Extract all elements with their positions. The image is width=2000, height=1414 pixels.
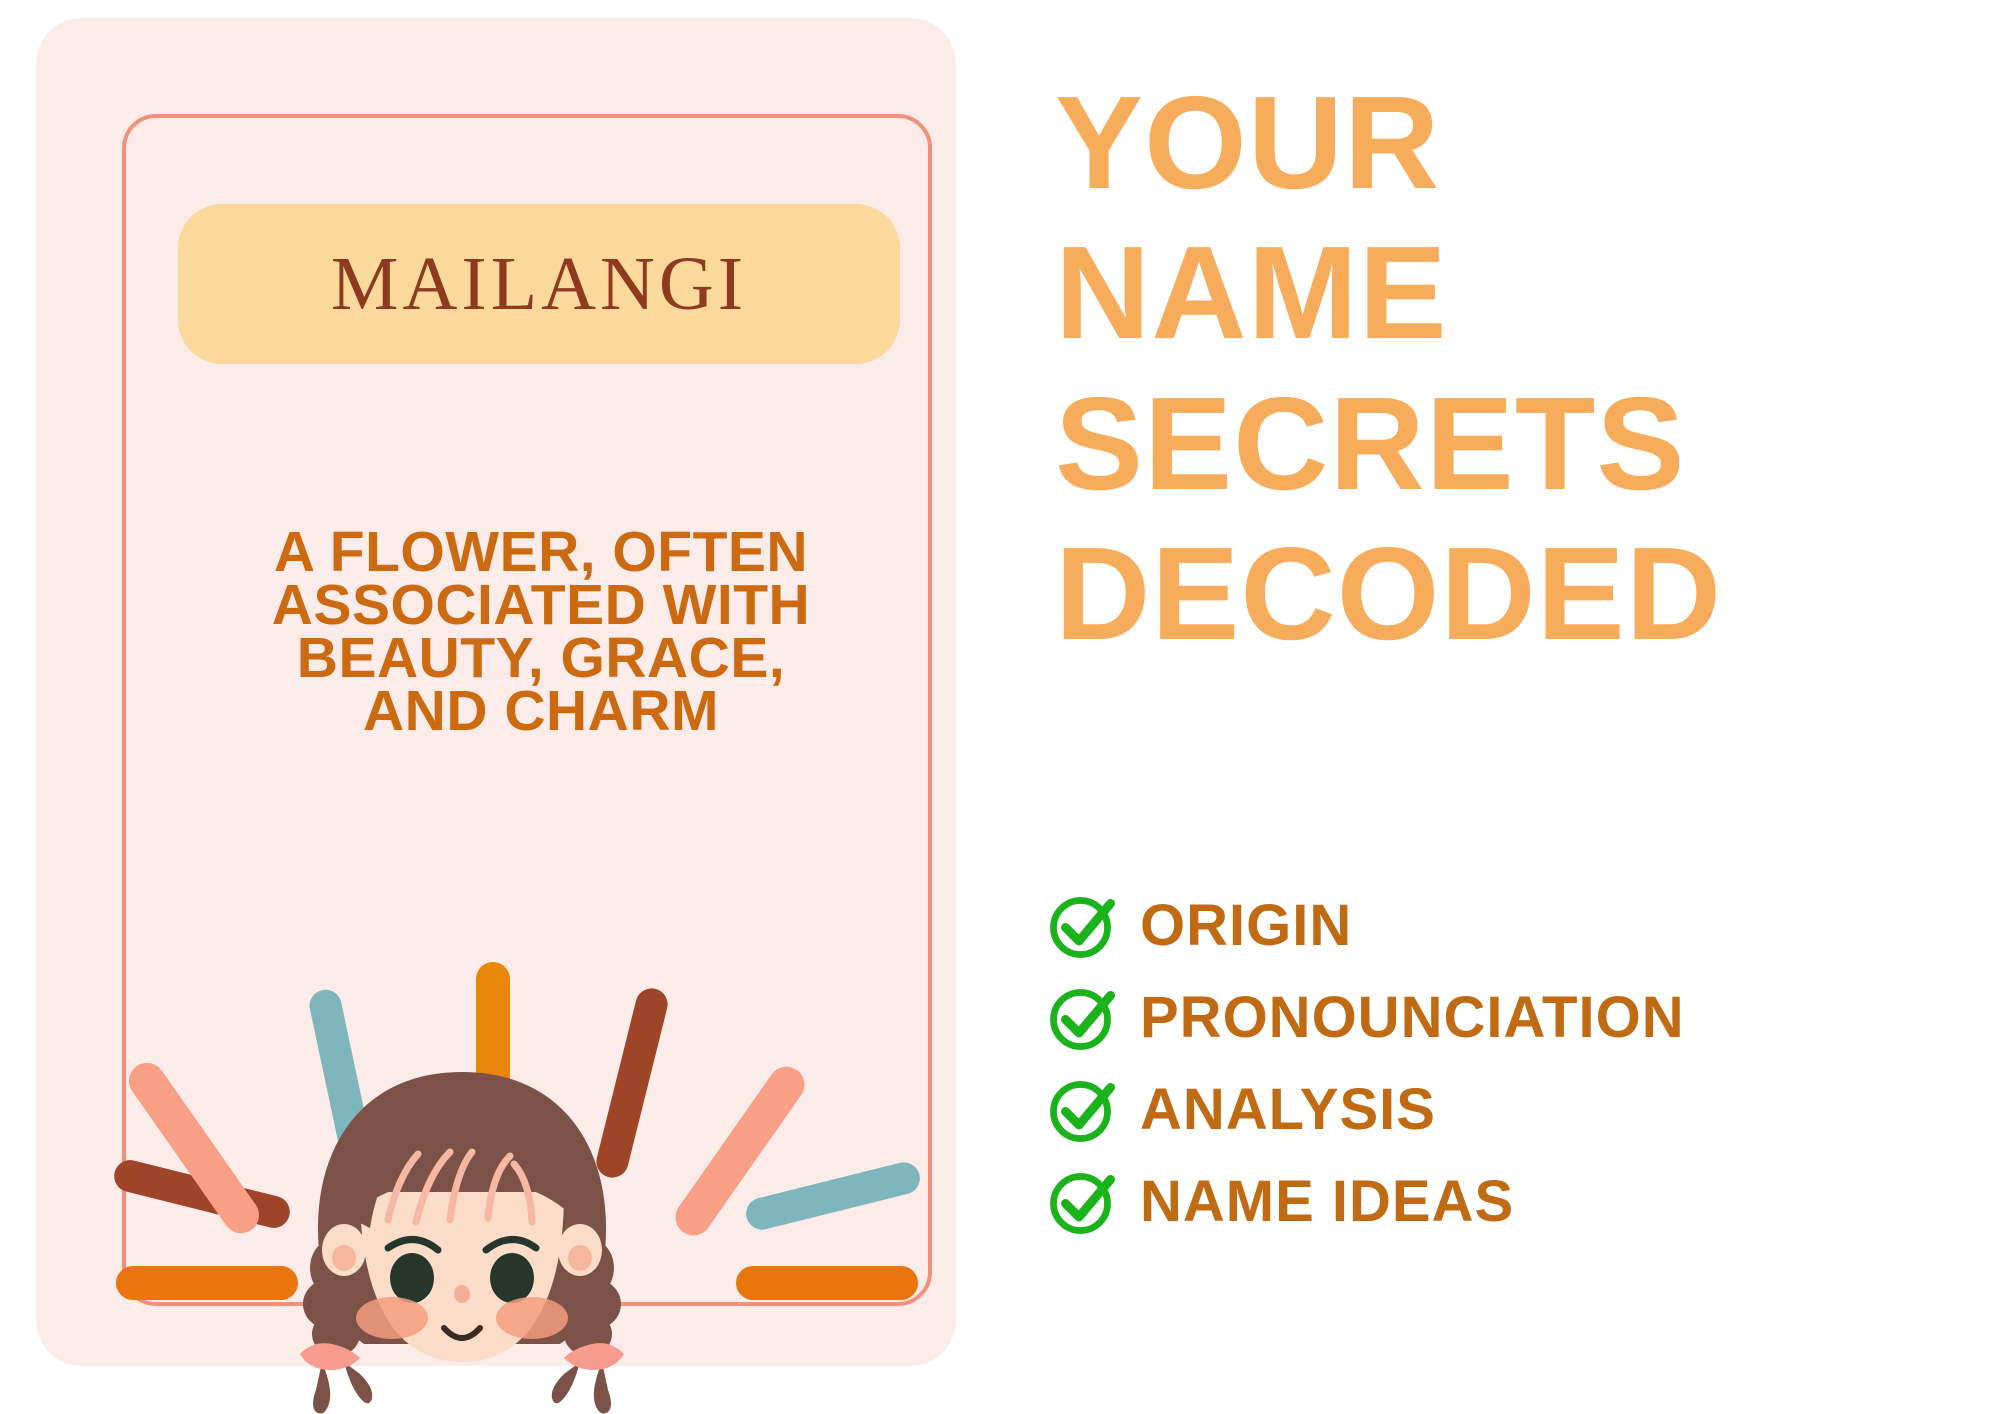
feature-label: ORIGIN [1140,897,1352,955]
headline-line-4: DECODED [1055,519,1955,669]
feature-item-analysis[interactable]: ANALYSIS [1046,1064,1966,1156]
check-circle-icon [1046,982,1118,1054]
left-blush [356,1297,428,1339]
right-eye [490,1253,534,1303]
ray-orange-right-bar [736,1266,918,1300]
name-meaning-line-3: BEAUTY, GRACE, [186,632,896,685]
headline-line-3: SECRETS [1055,369,1955,519]
feature-label: PRONOUNCIATION [1140,989,1685,1047]
ray-teal-right [743,1159,923,1233]
girl-illustration [292,1072,632,1414]
headline-line-1: YOUR [1055,68,1955,218]
headline-line-2: NAME [1055,218,1955,368]
name-meaning-line-1: A FLOWER, OFTEN [186,526,896,579]
ray-orange-left-bar [116,1266,298,1300]
name-meaning-line-2: ASSOCIATED WITH [186,579,896,632]
feature-item-origin[interactable]: ORIGIN [1046,880,1966,972]
check-circle-icon [1046,1074,1118,1146]
feature-label: NAME IDEAS [1140,1173,1514,1231]
name-pill: MAILANGI [178,204,900,364]
check-circle-icon [1046,890,1118,962]
name-meaning-line-4: AND CHARM [186,685,896,738]
feature-item-pronounciation[interactable]: PRONOUNCIATION [1046,972,1966,1064]
name-meaning-text: A FLOWER, OFTEN ASSOCIATED WITH BEAUTY, … [186,526,896,738]
ray-salmon-left [122,1056,266,1240]
left-eye [390,1253,434,1303]
feature-item-name-ideas[interactable]: NAME IDEAS [1046,1156,1966,1248]
feature-list: ORIGIN PRONOUNCIATION ANALYSIS NAME IDEA… [1046,880,1966,1248]
feature-label: ANALYSIS [1140,1081,1436,1139]
headline: YOUR NAME SECRETS DECODED [1055,68,1955,670]
name-pill-label: MAILANGI [331,246,747,322]
check-circle-icon [1046,1166,1118,1238]
right-blush [496,1297,568,1339]
